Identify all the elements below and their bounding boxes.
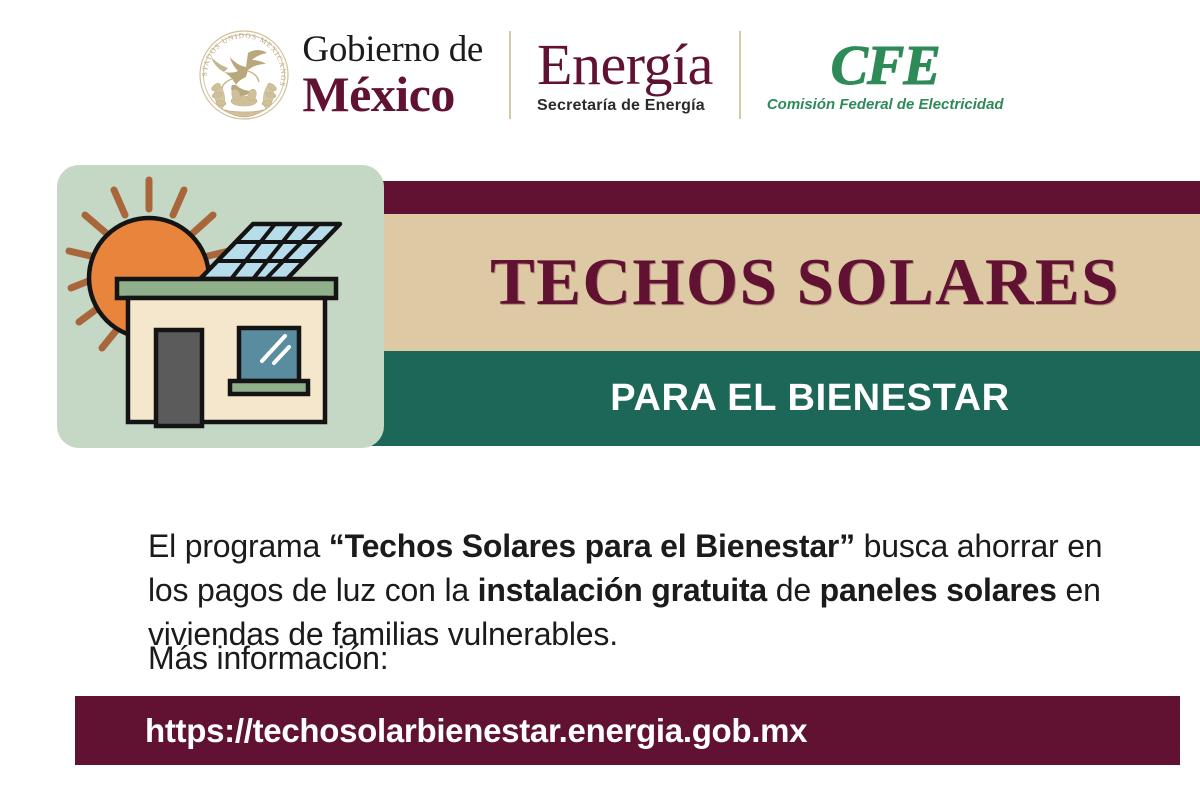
house-door-icon <box>156 330 202 426</box>
mexican-coat-of-arms-seal-icon: ESTADOS UNIDOS MEXICANOS <box>196 27 292 123</box>
website-url-text[interactable]: https://techosolarbienestar.energia.gob.… <box>145 712 807 750</box>
energia-logo: Energía Secretaría de Energía <box>537 36 713 114</box>
program-banner: TECHOS SOLARES PARA EL BIENESTAR <box>310 181 1200 446</box>
description-text: de <box>767 572 820 608</box>
house-solar-illustration <box>57 165 384 448</box>
cfe-subtitle: Comisión Federal de Electricidad <box>767 97 1004 112</box>
gobierno-de-mexico-logo: ESTADOS UNIDOS MEXICANOS <box>196 27 483 123</box>
poster-root: ESTADOS UNIDOS MEXICANOS <box>0 0 1200 787</box>
roof-slab <box>117 279 336 298</box>
gobierno-de-mexico-wordmark: Gobierno de México <box>302 31 483 119</box>
banner-band-beige: TECHOS SOLARES <box>310 214 1200 351</box>
logo-divider-2 <box>739 31 741 119</box>
banner-title: TECHOS SOLARES <box>490 244 1120 321</box>
cfe-wordmark: CFE <box>767 38 1004 94</box>
banner-subtitle: PARA EL BIENESTAR <box>610 377 1009 420</box>
description-emphasis: “Techos Solares para el Bienestar” <box>329 528 855 564</box>
energia-wordmark: Energía <box>537 36 713 94</box>
description-emphasis: instalación gratuita <box>478 572 767 608</box>
website-url-bar[interactable]: https://techosolarbienestar.energia.gob.… <box>75 696 1180 765</box>
logo-divider-1 <box>509 31 511 119</box>
window-sill <box>230 381 308 394</box>
gobierno-line-1: Gobierno de <box>302 31 483 68</box>
government-logo-bar: ESTADOS UNIDOS MEXICANOS <box>0 0 1200 150</box>
banner-band-guinda <box>310 181 1200 214</box>
gobierno-line-2: México <box>302 69 483 119</box>
energia-subtitle: Secretaría de Energía <box>537 98 713 114</box>
program-description: El programa “Techos Solares para el Bien… <box>148 524 1138 656</box>
description-text: El programa <box>148 528 329 564</box>
banner-band-green: PARA EL BIENESTAR <box>310 351 1200 446</box>
more-info-label: Más información: <box>148 640 388 677</box>
cfe-logo: CFE Comisión Federal de Electricidad <box>767 38 1004 112</box>
description-emphasis: paneles solares <box>820 572 1057 608</box>
